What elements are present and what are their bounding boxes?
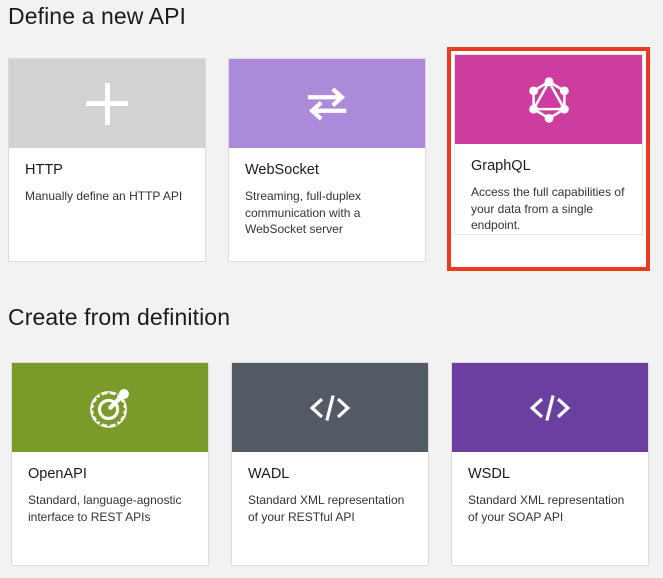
define-api-page: Define a new API HTTP Manually define an… <box>0 0 663 578</box>
api-card-websocket-body: WebSocket Streaming, full-duplex communi… <box>229 148 425 238</box>
graphql-logo-icon <box>524 75 574 125</box>
api-card-wadl-body: WADL Standard XML representation of your… <box>232 452 428 525</box>
plus-icon <box>86 83 128 125</box>
api-card-openapi-body: OpenAPI Standard, language-agnostic inte… <box>12 452 208 525</box>
api-card-wadl-description: Standard XML representation of your REST… <box>248 492 412 525</box>
api-card-http-description: Manually define an HTTP API <box>25 188 189 205</box>
section-heading-define-api: Define a new API <box>8 2 186 30</box>
api-card-openapi-description: Standard, language-agnostic interface to… <box>28 492 192 525</box>
api-card-websocket-header <box>229 59 425 148</box>
api-card-wsdl-header <box>452 363 648 452</box>
api-card-openapi-header <box>12 363 208 452</box>
api-card-websocket-title: WebSocket <box>245 161 409 179</box>
bidirectional-arrows-icon <box>302 79 352 129</box>
api-card-graphql-selection-frame[interactable]: GraphQL Access the full capabilities of … <box>447 47 650 271</box>
code-brackets-icon <box>525 383 575 433</box>
api-card-graphql-title: GraphQL <box>471 157 626 175</box>
section-heading-create-from-definition: Create from definition <box>8 303 230 331</box>
api-card-http-title: HTTP <box>25 161 189 179</box>
api-card-graphql-description: Access the full capabilities of your dat… <box>471 184 626 234</box>
api-card-wadl[interactable]: WADL Standard XML representation of your… <box>231 362 429 566</box>
api-card-wsdl-title: WSDL <box>468 465 632 483</box>
api-card-http-body: HTTP Manually define an HTTP API <box>9 148 205 205</box>
api-card-graphql-body: GraphQL Access the full capabilities of … <box>455 144 642 234</box>
api-card-websocket-description: Streaming, full-duplex communication wit… <box>245 188 409 238</box>
api-card-http[interactable]: HTTP Manually define an HTTP API <box>8 58 206 262</box>
api-card-graphql[interactable]: GraphQL Access the full capabilities of … <box>454 54 643 235</box>
api-card-websocket[interactable]: WebSocket Streaming, full-duplex communi… <box>228 58 426 262</box>
api-card-wadl-header <box>232 363 428 452</box>
api-card-wadl-title: WADL <box>248 465 412 483</box>
api-card-wsdl-body: WSDL Standard XML representation of your… <box>452 452 648 525</box>
api-card-graphql-header <box>455 55 642 144</box>
openapi-logo-icon <box>85 383 135 433</box>
api-card-wsdl[interactable]: WSDL Standard XML representation of your… <box>451 362 649 566</box>
api-card-wsdl-description: Standard XML representation of your SOAP… <box>468 492 632 525</box>
api-card-openapi-title: OpenAPI <box>28 465 192 483</box>
code-brackets-icon <box>305 383 355 433</box>
api-card-http-header <box>9 59 205 148</box>
api-card-openapi[interactable]: OpenAPI Standard, language-agnostic inte… <box>11 362 209 566</box>
